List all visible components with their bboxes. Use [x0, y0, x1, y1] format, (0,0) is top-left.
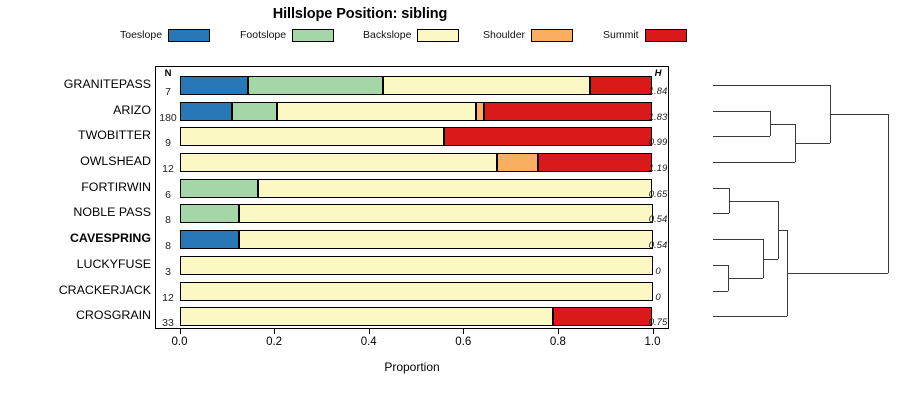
n-value: 8 [156, 214, 180, 226]
x-tick-label: 1.0 [633, 336, 673, 348]
n-column-header: N [156, 68, 180, 79]
bar-segment-backslope [180, 256, 653, 275]
bar-segment-backslope [239, 204, 653, 223]
x-tick [463, 329, 464, 334]
bar-segment-summit [484, 102, 653, 121]
h-value: 0.99 [645, 137, 671, 148]
bar-segment-footslope [248, 76, 383, 95]
bar-segment-shoulder [476, 102, 484, 121]
chart-figure: Hillslope Position: sibling ToeslopeFoot… [0, 0, 900, 400]
bar-segment-backslope [277, 102, 475, 121]
n-value: 180 [156, 112, 180, 124]
n-value: 7 [156, 86, 180, 98]
x-tick-label: 0.4 [349, 336, 389, 348]
x-tick [558, 329, 559, 334]
n-value: 12 [156, 292, 180, 304]
bar-segment-backslope [258, 179, 652, 198]
n-value: 3 [156, 266, 180, 278]
h-value: 0 [645, 266, 671, 277]
bar-segment-toeslope [180, 102, 232, 121]
n-value: 8 [156, 240, 180, 252]
x-tick [369, 329, 370, 334]
n-value: 33 [156, 317, 180, 329]
x-tick [653, 329, 654, 334]
bar-segment-footslope [180, 204, 239, 223]
h-value: 0.54 [645, 240, 671, 251]
x-tick-label: 0.0 [160, 336, 200, 348]
dendrogram-link [713, 265, 728, 266]
dendrogram-link [830, 114, 888, 115]
dendrogram-link [713, 136, 770, 137]
bar-segment-summit [444, 127, 652, 146]
n-value: 12 [156, 163, 180, 175]
x-tick [274, 329, 275, 334]
dendrogram-link [787, 273, 888, 274]
dendrogram-link [713, 213, 729, 214]
bar-segment-shoulder [497, 153, 537, 172]
bar-segment-toeslope [180, 230, 239, 249]
x-axis-title: Proportion [155, 360, 669, 374]
bar-segment-footslope [232, 102, 278, 121]
n-column: N 718091268831233 [156, 66, 180, 329]
bar-segment-summit [590, 76, 653, 95]
x-tick-label: 0.2 [254, 336, 294, 348]
dendrogram-link [713, 188, 729, 189]
bar-segment-summit [553, 307, 652, 326]
dendrogram-link [713, 291, 728, 292]
dendrogram-link [888, 114, 889, 273]
dendrogram-link [729, 201, 778, 202]
dendrogram-link [778, 230, 787, 231]
x-tick [180, 329, 181, 334]
h-value: 1.19 [645, 163, 671, 174]
dendrogram-link [770, 124, 795, 125]
dendrogram [700, 60, 900, 340]
bar-segment-backslope [180, 153, 498, 172]
bar-segment-toeslope [180, 76, 249, 95]
x-tick-label: 0.6 [443, 336, 483, 348]
bar-segment-backslope [239, 230, 653, 249]
h-value: 1.83 [645, 112, 671, 123]
n-value: 9 [156, 137, 180, 149]
dendrogram-link [713, 316, 787, 317]
h-column-header: H [645, 68, 671, 79]
dendrogram-link [713, 111, 770, 112]
h-value: 0.65 [645, 189, 671, 200]
dendrogram-link [713, 162, 795, 163]
dendrogram-link [795, 143, 830, 144]
bar-segment-backslope [180, 282, 653, 301]
h-value: 1.84 [645, 86, 671, 97]
bar-segment-summit [538, 153, 653, 172]
h-column: H 1.841.830.991.190.650.540.54000.75 [645, 66, 671, 329]
h-value: 0 [645, 292, 671, 303]
h-value: 0.54 [645, 214, 671, 225]
bar-segment-backslope [383, 76, 590, 95]
dendrogram-link [728, 278, 763, 279]
dendrogram-link [763, 259, 778, 260]
n-value: 6 [156, 189, 180, 201]
x-tick-label: 0.8 [538, 336, 578, 348]
bar-segment-backslope [180, 127, 445, 146]
bar-segment-footslope [180, 179, 259, 198]
bar-segment-backslope [180, 307, 554, 326]
dendrogram-link [713, 239, 763, 240]
h-value: 0.75 [645, 317, 671, 328]
dendrogram-link [713, 85, 830, 86]
